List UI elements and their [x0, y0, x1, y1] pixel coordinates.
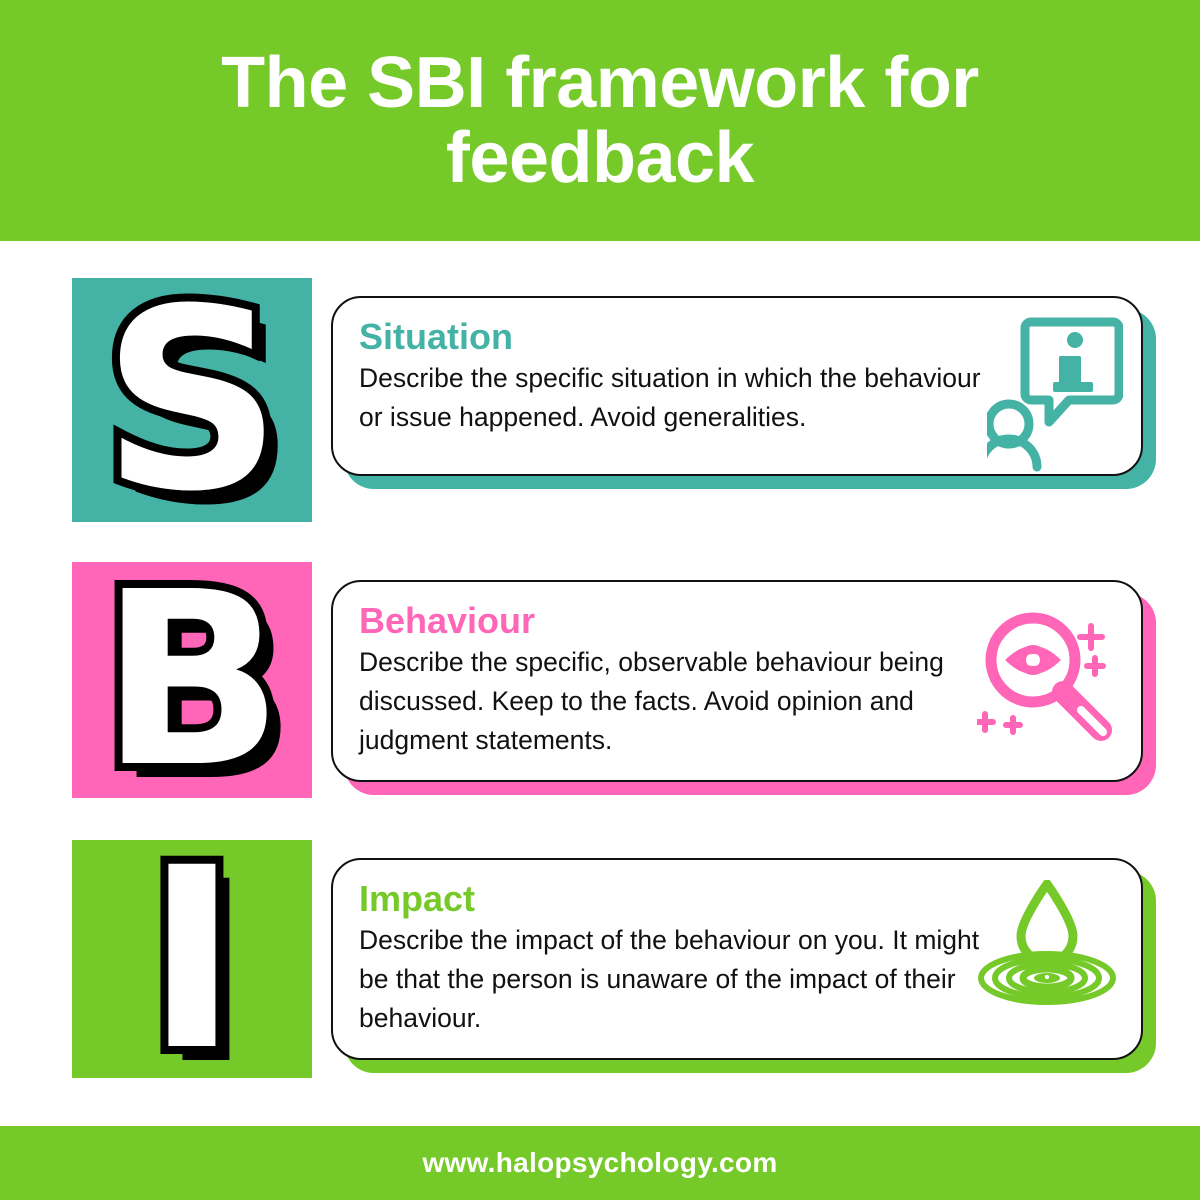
card-body-behaviour: Describe the specific, observable behavi… — [359, 643, 999, 760]
letter-glyph-b: B — [101, 582, 284, 779]
card-situation[interactable]: Situation Describe the specific situatio… — [331, 296, 1143, 476]
header-banner: The SBI framework for feedback — [0, 0, 1200, 241]
card-title-situation: Situation — [359, 316, 1115, 357]
letter-tile-i: I — [72, 840, 312, 1078]
website-url[interactable]: www.halopsychology.com — [422, 1147, 777, 1179]
infographic-page: The SBI framework for feedback S Situati… — [0, 0, 1200, 1200]
card-wrap-behaviour: Behaviour Describe the specific, observa… — [331, 580, 1143, 782]
letter-glyph-s: S — [102, 298, 282, 503]
section-situation: S Situation Describe the specific situat… — [0, 278, 1200, 522]
card-body-situation: Describe the specific situation in which… — [359, 359, 999, 437]
section-behaviour: B Behaviour Describe the specific, obser… — [0, 562, 1200, 798]
letter-tile-s: S — [72, 278, 312, 522]
card-wrap-situation: Situation Describe the specific situatio… — [331, 296, 1143, 476]
card-title-behaviour: Behaviour — [359, 600, 1115, 641]
letter-glyph-i: I — [145, 857, 238, 1062]
letter-tile-b: B — [72, 562, 312, 798]
card-behaviour[interactable]: Behaviour Describe the specific, observa… — [331, 580, 1143, 782]
card-wrap-impact: Impact Describe the impact of the behavi… — [331, 858, 1143, 1060]
footer-banner: www.halopsychology.com — [0, 1126, 1200, 1200]
card-body-impact: Describe the impact of the behaviour on … — [359, 921, 999, 1038]
card-title-impact: Impact — [359, 878, 1115, 919]
card-impact[interactable]: Impact Describe the impact of the behavi… — [331, 858, 1143, 1060]
page-title: The SBI framework for feedback — [150, 46, 1050, 194]
section-impact: I Impact Describe the impact of the beha… — [0, 840, 1200, 1078]
